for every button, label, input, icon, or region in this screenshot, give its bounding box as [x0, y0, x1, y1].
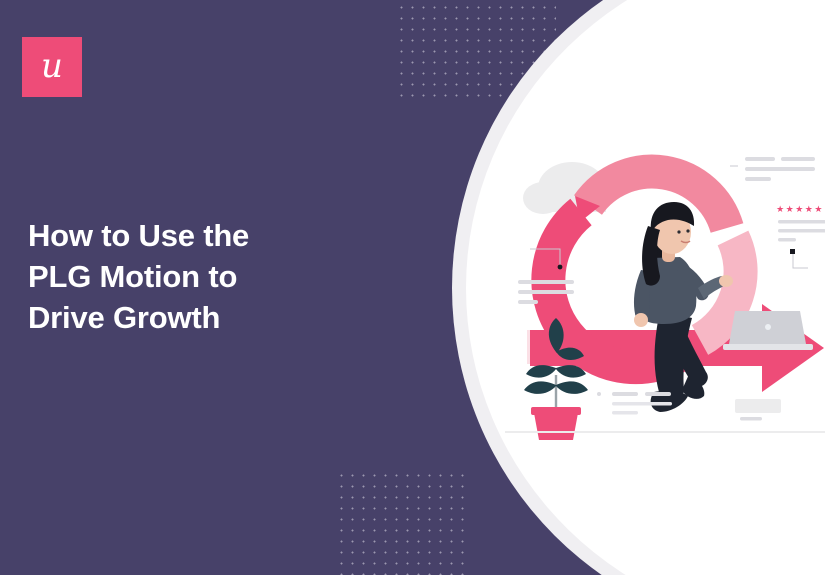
title-line-1: How to Use the [28, 216, 358, 257]
title-line-2: PLG Motion to [28, 257, 358, 298]
logo-glyph: u [41, 49, 63, 83]
title-line-3: Drive Growth [28, 298, 358, 339]
dot-pattern-bottom-left [336, 470, 466, 575]
page-title: How to Use the PLG Motion to Drive Growt… [28, 216, 358, 339]
userpilot-logo[interactable]: u [22, 37, 82, 97]
promo-banner: ★★★★★ [0, 0, 825, 575]
